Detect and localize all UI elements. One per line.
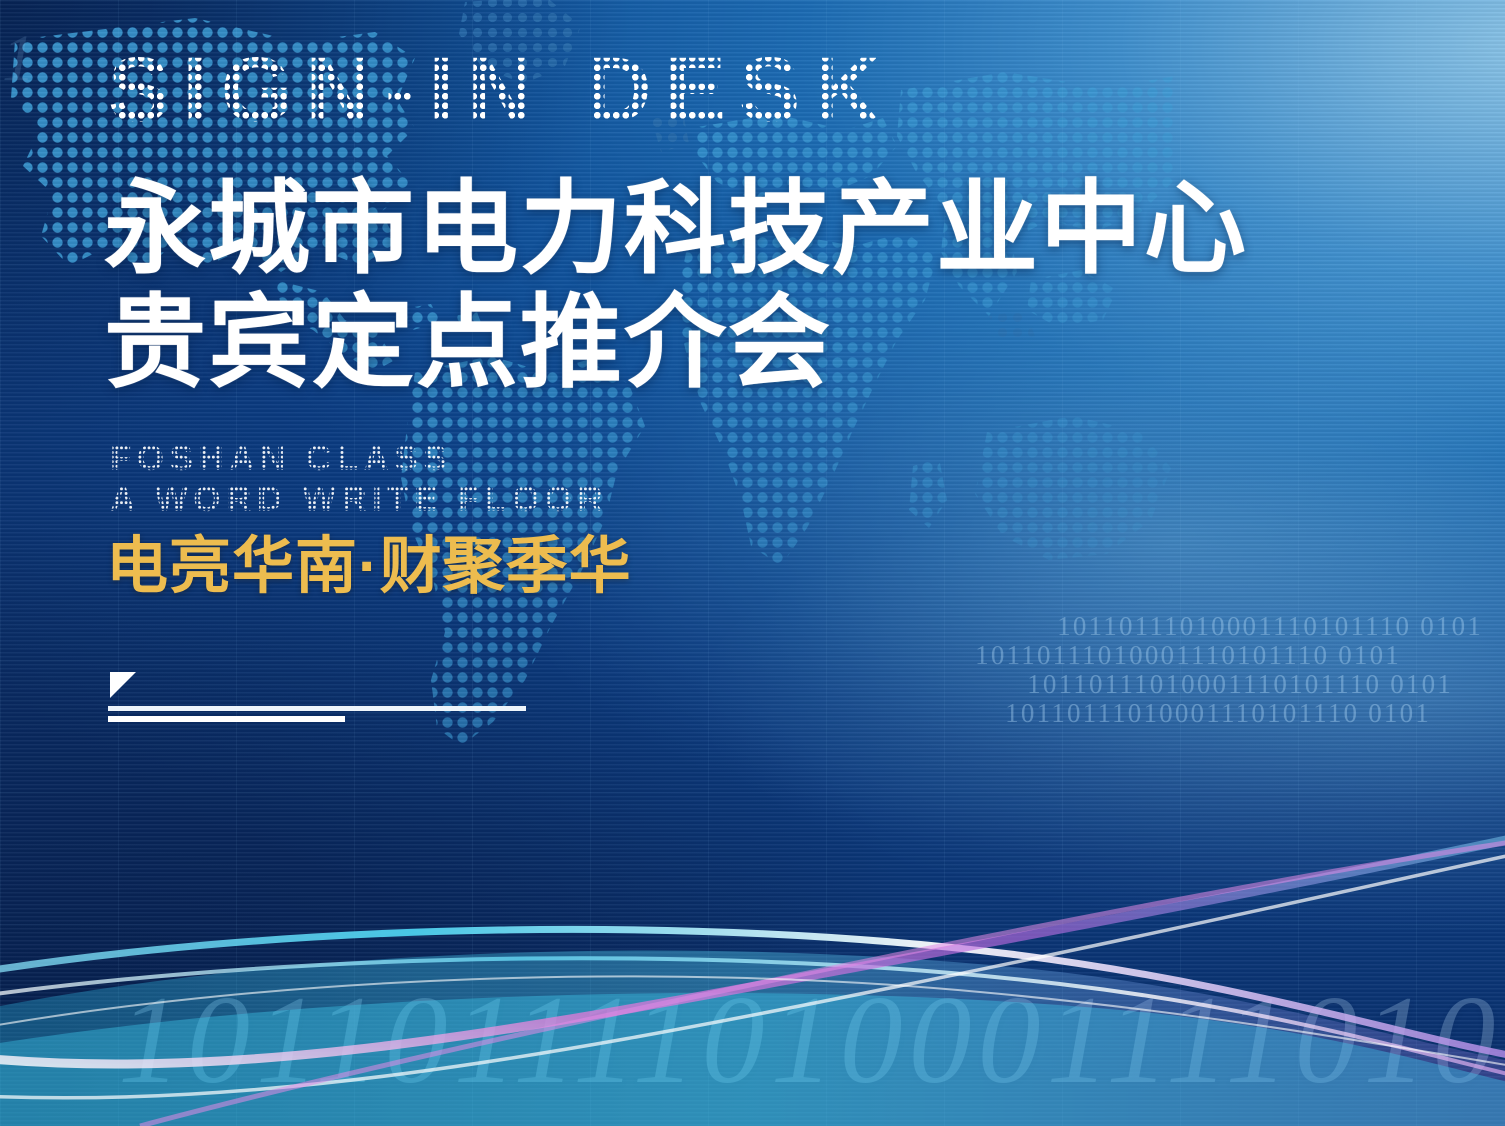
poster-canvas: 1 10110111010001110101110 0101 101101110… [0, 0, 1505, 1126]
decorative-rule-group [108, 672, 538, 724]
rule-line-upper [108, 706, 526, 711]
page-title-line-1: 永城市电力科技产业中心 [104, 178, 1248, 280]
subtitle-led-line-2: A WORD WRITE FLOOR [110, 482, 608, 517]
page-title-line-2: 贵宾定点推介会 [104, 292, 832, 394]
rule-line-lower [108, 716, 345, 722]
header-led-text: SIGN-IN DESK [108, 44, 893, 136]
tagline-text: 电亮华南·财聚季华 [106, 536, 632, 598]
pennant-triangle-icon [110, 672, 136, 698]
poster-content: SIGN-IN DESK 永城市电力科技产业中心 贵宾定点推介会 FOSHAN … [0, 0, 1505, 1126]
subtitle-led-line-1: FOSHAN CLASS [110, 441, 452, 476]
